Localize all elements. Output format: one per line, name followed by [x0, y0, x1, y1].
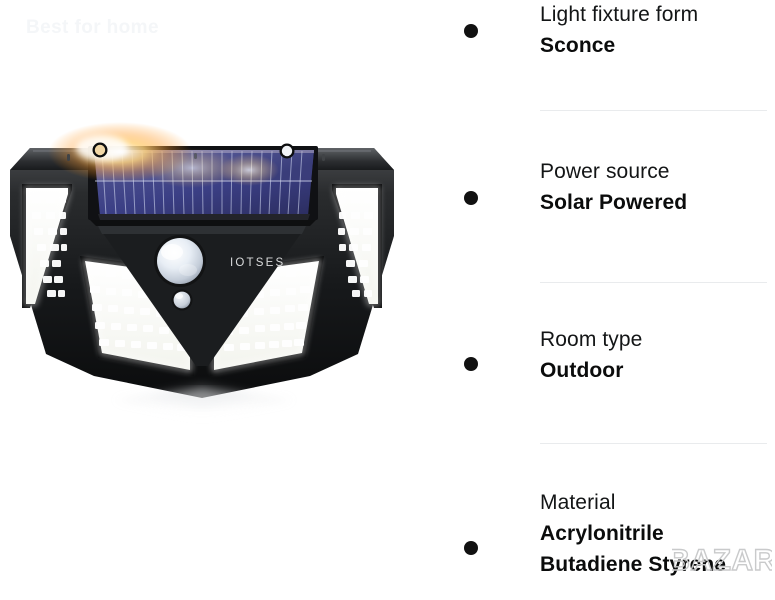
svg-text:IOTSES: IOTSES	[230, 257, 285, 269]
spec-label: Material	[540, 488, 772, 518]
spec-value: Sconce	[540, 30, 772, 61]
bullet-icon	[464, 541, 478, 555]
bullet-icon	[464, 24, 478, 38]
spec-label: Power source	[540, 157, 772, 187]
bullet-icon	[464, 357, 478, 371]
spec-divider	[540, 443, 767, 444]
product-overlay-text: Best for home	[26, 17, 159, 39]
spec-value: Outdoor	[540, 355, 772, 386]
spec-value: Acrylonitrile Butadiene Styrene	[540, 518, 772, 580]
spec-value: Solar Powered	[540, 187, 772, 218]
spec-label: Light fixture form	[540, 0, 772, 30]
product-image-panel: Best for home	[0, 0, 430, 600]
product-specs-panel: Light fixture form Sconce Power source S…	[430, 0, 775, 600]
spec-divider	[540, 110, 767, 111]
bullet-icon	[464, 191, 478, 205]
spec-label: Room type	[540, 325, 772, 355]
solar-wall-light-image: IOTSES	[2, 108, 402, 428]
spec-divider	[540, 282, 767, 283]
